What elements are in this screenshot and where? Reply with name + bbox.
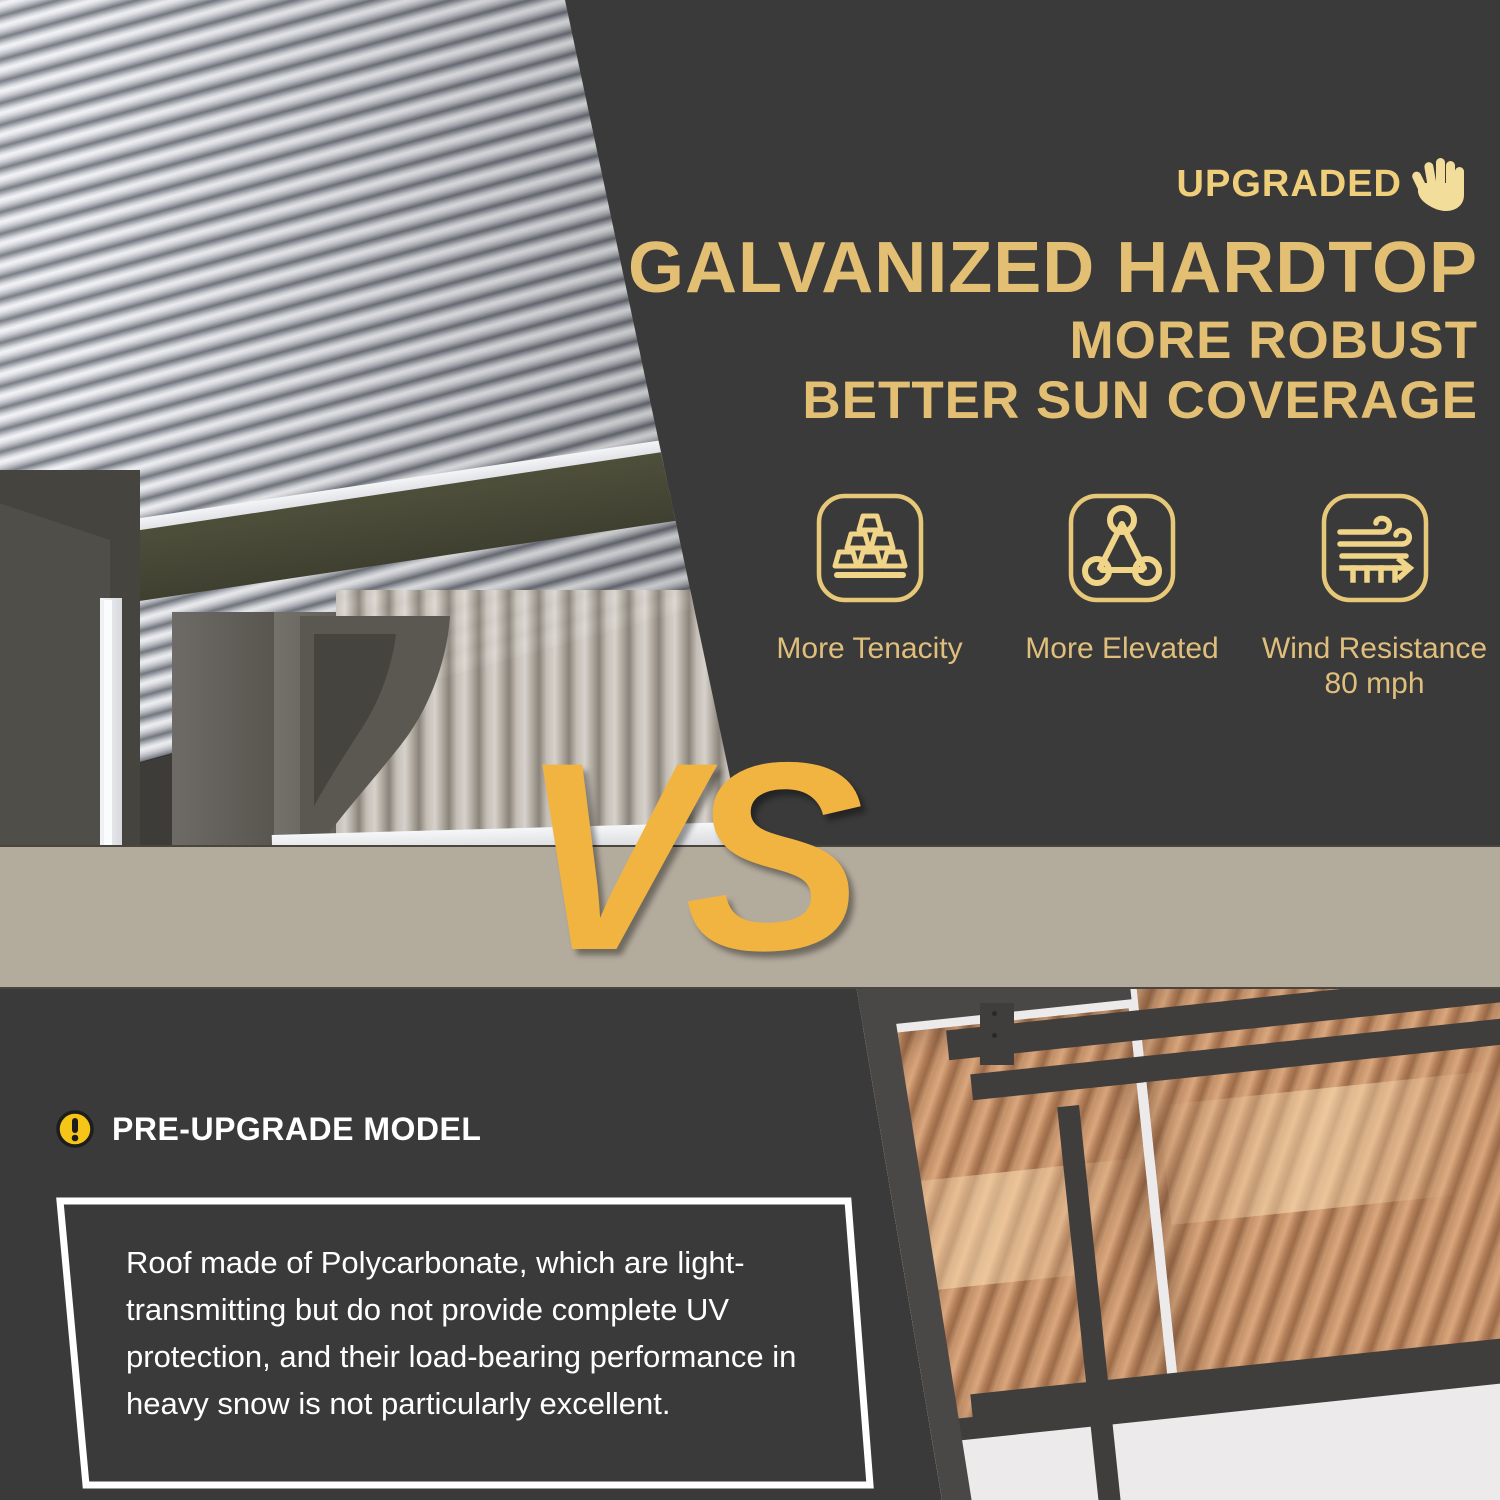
pre-upgrade-description: Roof made of Polycarbonate, which are li…	[126, 1239, 826, 1427]
feature-more-tenacity: More Tenacity	[752, 492, 987, 666]
polycarbonate-roof-photo	[820, 985, 1500, 1500]
bolt-icon	[992, 1011, 997, 1016]
upgraded-label: UPGRADED	[1177, 163, 1402, 206]
pre-upgrade-heading: PRE-UPGRADE MODEL	[112, 1111, 481, 1148]
feature-more-elevated: More Elevated	[1005, 492, 1240, 666]
feature-wind-resistance: Wind Resistance 80 mph	[1257, 492, 1492, 702]
feature-label-wind: Wind Resistance 80 mph	[1262, 631, 1487, 702]
pre-upgrade-heading-row: PRE-UPGRADE MODEL	[56, 1110, 481, 1148]
feature-label-tenacity: More Tenacity	[776, 631, 962, 666]
feature-list: More Tenacity More	[752, 492, 1492, 702]
wind-resistance-icon	[1320, 492, 1430, 609]
headline-line-1: GALVANIZED HARDTOP	[578, 232, 1478, 305]
wind-label-line-2: 80 mph	[1324, 667, 1424, 700]
product-comparison-infographic: VS UPGRADED GALVANIZED HARDTOP MORE ROBU…	[0, 0, 1500, 1500]
feature-label-elevated: More Elevated	[1025, 631, 1218, 666]
wind-label-line-1: Wind Resistance	[1262, 632, 1487, 665]
raised-hand-glove-icon	[1406, 155, 1468, 213]
triangle-nodes-icon	[1067, 492, 1177, 609]
upgraded-badge: UPGRADED	[1177, 155, 1468, 213]
frame-bracket	[980, 1003, 1014, 1065]
dark-post	[172, 612, 278, 862]
gold-bars-stack-icon	[815, 492, 925, 609]
warning-exclamation-icon	[56, 1110, 94, 1148]
headline-line-3: BETTER SUN COVERAGE	[578, 371, 1478, 430]
headline-line-2: MORE ROBUST	[578, 311, 1478, 370]
corner-bracket	[300, 616, 500, 846]
versus-label: VS	[520, 722, 850, 990]
headline-block: GALVANIZED HARDTOP MORE ROBUST BETTER SU…	[578, 232, 1478, 430]
white-post-left-highlight	[104, 600, 112, 858]
pre-upgrade-description-box: Roof made of Polycarbonate, which are li…	[48, 1175, 878, 1495]
bolt-icon	[992, 1033, 997, 1038]
left-wall-panel-inner	[0, 500, 110, 860]
